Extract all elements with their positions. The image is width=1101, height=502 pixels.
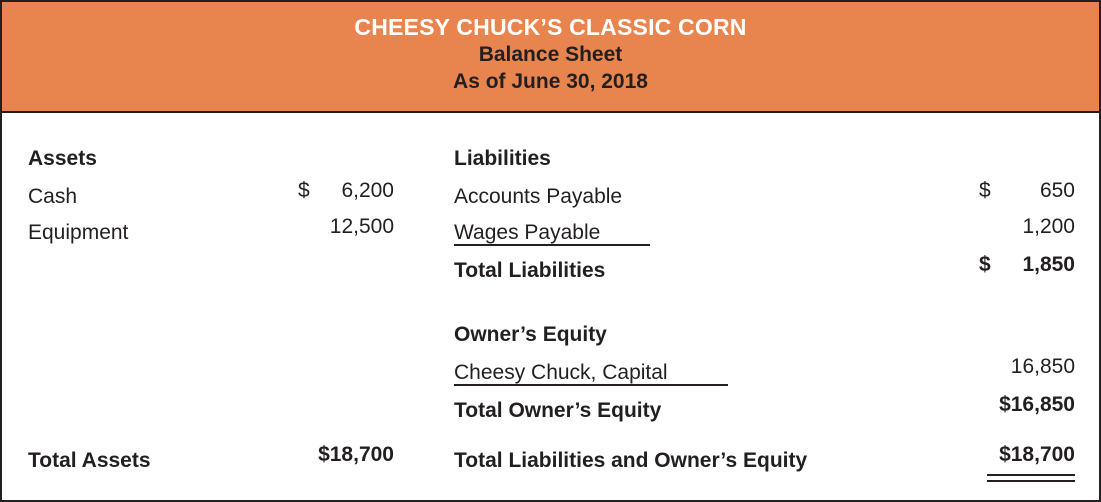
assets-amount-cash: $ 6,200 [248, 179, 394, 203]
amount-value: 1,200 [1001, 215, 1075, 239]
total-assets-amount: $18,700 [248, 443, 394, 467]
amount-value: 6,200 [320, 179, 394, 203]
liabilities-equity-column: Liabilities Accounts Payable $ 650 Wages… [442, 113, 1099, 500]
company-name: CHEESY CHUCK’S CLASSIC CORN [354, 13, 746, 41]
owners-equity-label-capital: Cheesy Chuck, Capital [454, 361, 668, 385]
statement-date: As of June 30, 2018 [453, 68, 648, 95]
assets-heading-row: Assets [28, 141, 442, 177]
total-liabilities-label: Total Liabilities [454, 259, 605, 283]
amount-value: $18,700 [999, 443, 1075, 467]
assets-heading: Assets [28, 147, 97, 171]
owners-equity-heading: Owner’s Equity [454, 323, 607, 347]
liabilities-amount-wages-payable: 1,200 [912, 215, 1075, 239]
owners-equity-amount-capital: 16,850 [912, 355, 1075, 379]
currency-symbol: $ [979, 179, 1001, 203]
liabilities-label-accounts-payable: Accounts Payable [454, 185, 622, 209]
subtotal-rule-liabilities [454, 244, 650, 246]
assets-label-equipment: Equipment [28, 221, 128, 245]
total-owners-equity-amount: $16,850 [912, 393, 1075, 417]
statement-header: CHEESY CHUCK’S CLASSIC CORN Balance Shee… [2, 2, 1099, 113]
assets-label-cash: Cash [28, 185, 77, 209]
balance-sheet: CHEESY CHUCK’S CLASSIC CORN Balance Shee… [0, 0, 1101, 502]
amount-value: 1,850 [1001, 253, 1075, 277]
grand-total-double-rule [987, 474, 1075, 482]
grand-total-label: Total Liabilities and Owner’s Equity [454, 449, 807, 473]
subtotal-rule-owners-equity [454, 384, 728, 386]
amount-value: 650 [1001, 179, 1075, 203]
amount-value: $18,700 [318, 443, 394, 467]
amount-value: $16,850 [999, 393, 1075, 417]
currency-symbol: $ [979, 253, 1001, 277]
liabilities-amount-accounts-payable: $ 650 [912, 179, 1075, 203]
statement-title: Balance Sheet [479, 41, 623, 68]
assets-amount-equipment: 12,500 [248, 215, 394, 239]
currency-symbol: $ [298, 179, 320, 203]
amount-value: 12,500 [320, 215, 394, 239]
liabilities-label-wages-payable: Wages Payable [454, 221, 600, 245]
liabilities-heading-row: Liabilities [454, 141, 1099, 177]
total-assets-label: Total Assets [28, 449, 151, 473]
total-liabilities-amount: $ 1,850 [912, 253, 1075, 277]
assets-column: Assets Cash $ 6,200 Equipment 12,500 Tot… [2, 113, 442, 500]
owners-equity-heading-row: Owner’s Equity [454, 317, 1099, 353]
total-owners-equity-label: Total Owner’s Equity [454, 399, 661, 423]
amount-value: 16,850 [1001, 355, 1075, 379]
statement-body: Assets Cash $ 6,200 Equipment 12,500 Tot… [2, 113, 1099, 500]
liabilities-heading: Liabilities [454, 147, 551, 171]
grand-total-amount: $18,700 [912, 443, 1075, 467]
